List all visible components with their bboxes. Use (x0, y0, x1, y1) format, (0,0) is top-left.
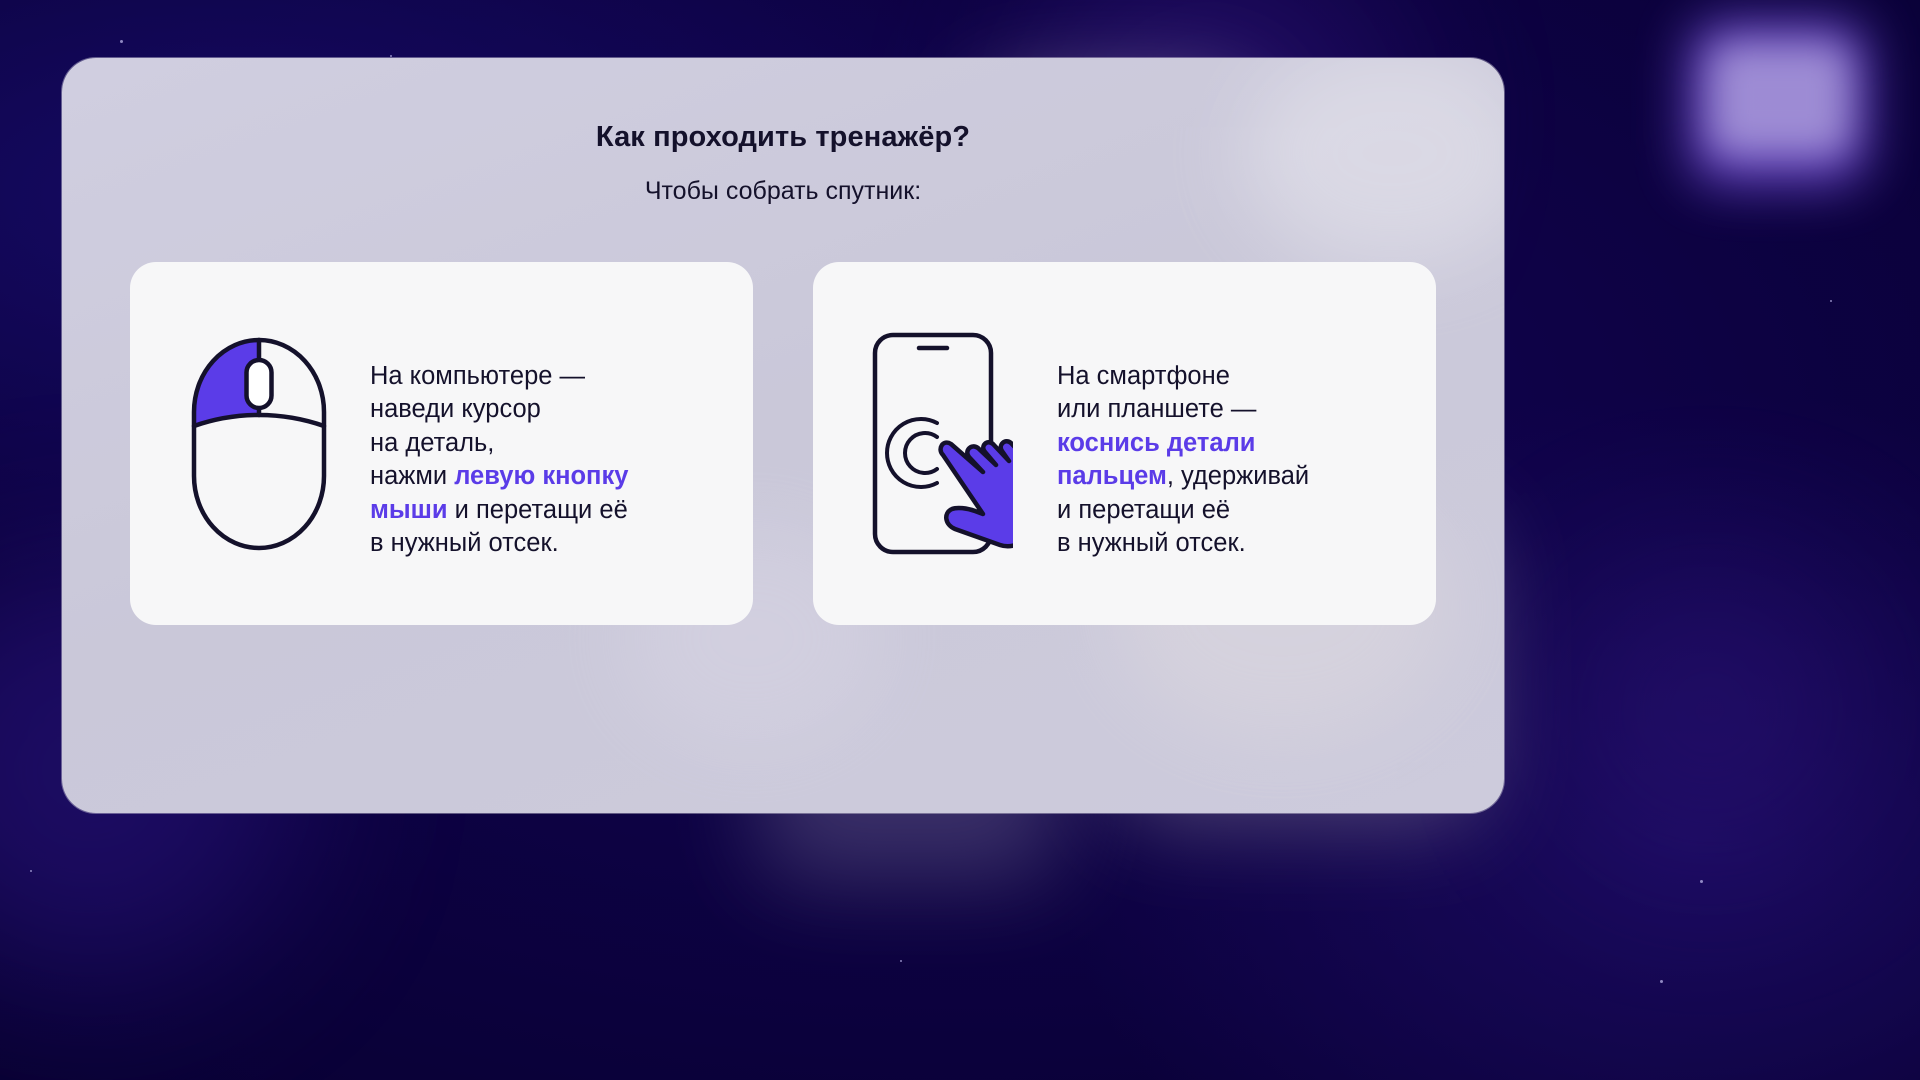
page-title: Как проходить тренажёр? (62, 121, 1504, 154)
instruction-text-mobile: На смартфоне или планшете — коснись дета… (1057, 326, 1309, 561)
background-star (30, 870, 32, 872)
background-star (1700, 880, 1703, 883)
instruction-cards: На компьютере — наведи курсор на деталь,… (62, 262, 1504, 625)
instruction-text-desktop: На компьютере — наведи курсор на деталь,… (370, 326, 628, 561)
instruction-modal-panel: Как проходить тренажёр? Чтобы собрать сп… (62, 58, 1504, 813)
background-star (1830, 300, 1832, 302)
background-star (1660, 980, 1663, 983)
page-subtitle: Чтобы собрать спутник: (62, 177, 1504, 206)
smartphone-touch-icon (857, 331, 1013, 556)
instruction-card-desktop: На компьютере — наведи курсор на деталь,… (130, 262, 753, 625)
background-star (900, 960, 902, 962)
text-segment: На смартфоне или планшете — (1057, 362, 1256, 424)
background-glow-right (1560, 560, 1860, 860)
instruction-card-mobile: На смартфоне или планшете — коснись дета… (813, 262, 1436, 625)
background-star (390, 55, 392, 57)
background-star (120, 40, 123, 43)
computer-mouse-icon (174, 334, 334, 554)
background-card-glow-inner (1710, 44, 1850, 154)
